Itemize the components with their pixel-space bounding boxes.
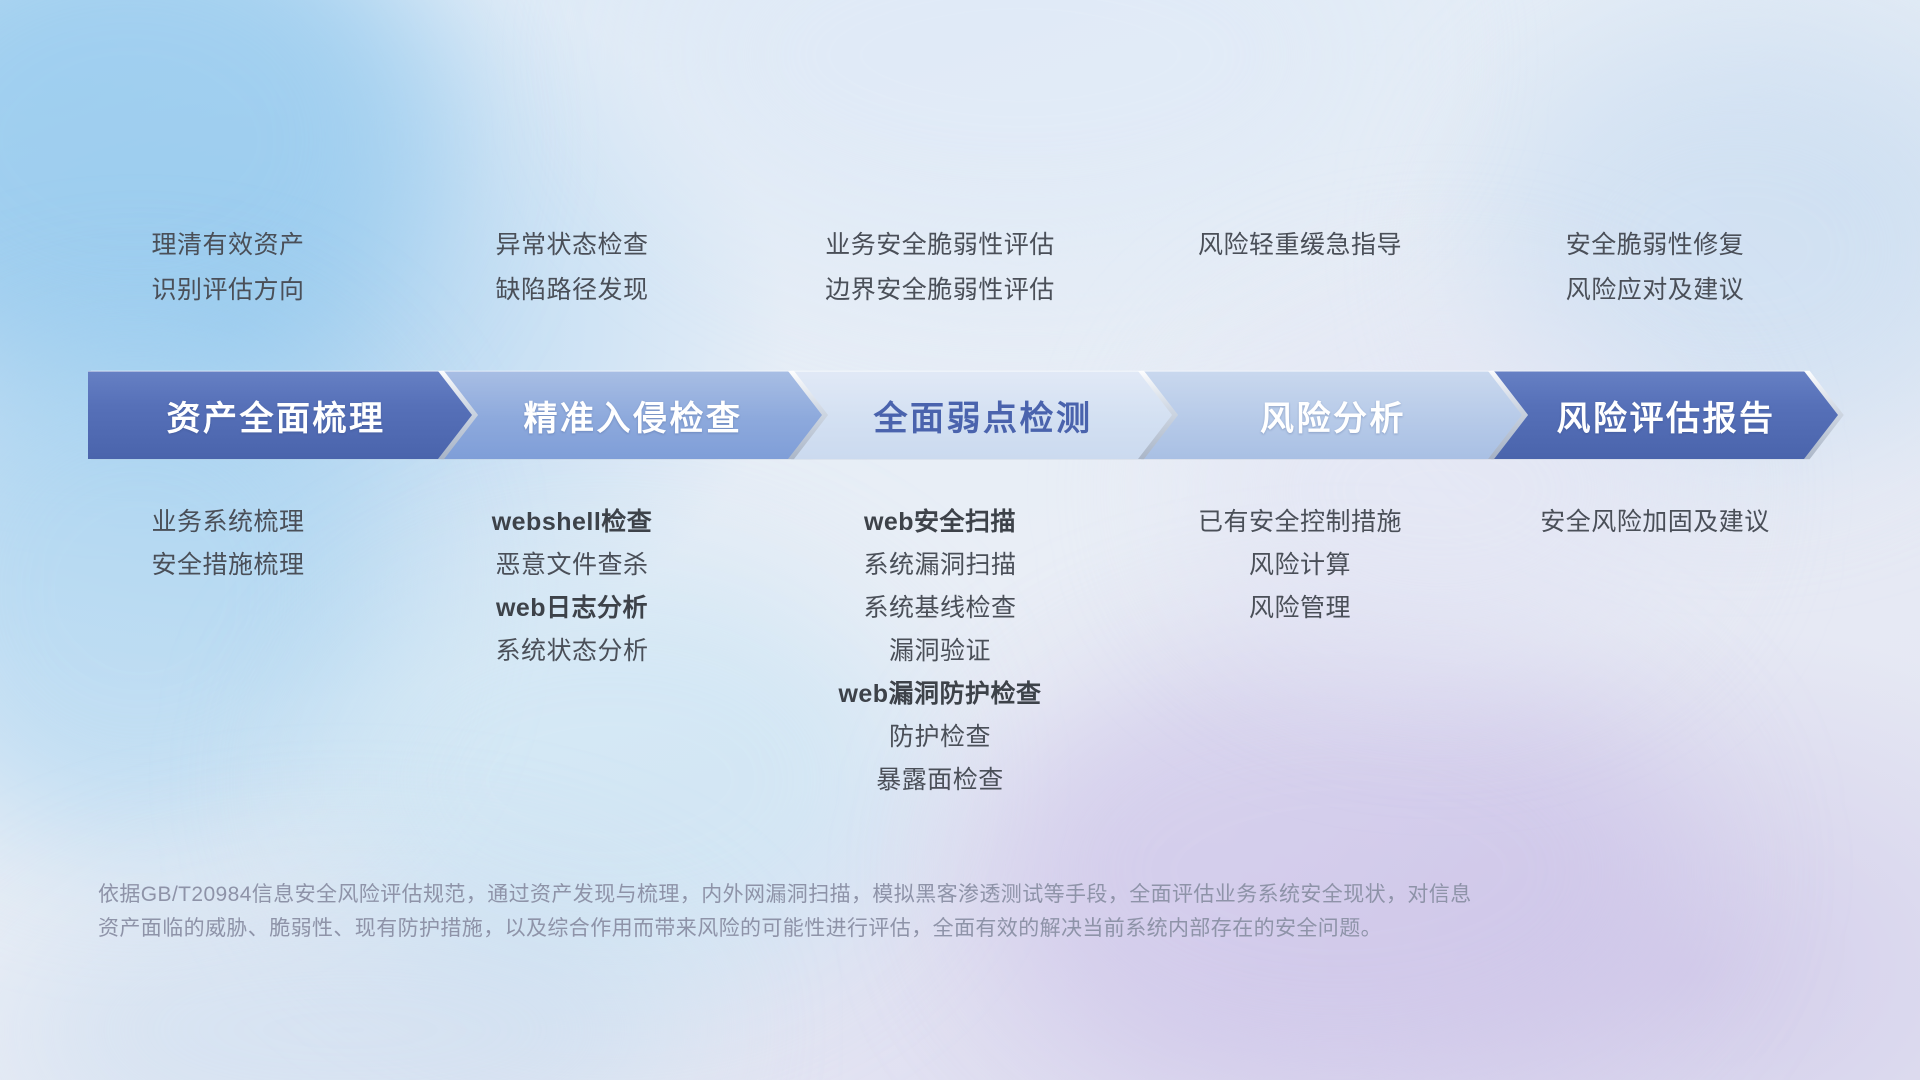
top-caption-line: 异常状态检查 <box>495 232 648 260</box>
detail-list-item: 安全措施梳理 <box>151 551 304 579</box>
footer-line-2: 资产面临的威胁、脆弱性、现有防护措施，以及综合作用而带来风险的可能性进行评估，全… <box>98 912 1638 946</box>
detail-list-asset-inventory: 业务系统梳理安全措施梳理 <box>151 508 304 579</box>
detail-list-item: web漏洞防护检查 <box>838 680 1041 708</box>
process-step-label: 全面弱点检测 <box>874 391 1093 440</box>
detail-list-item: 安全风险加固及建议 <box>1540 508 1770 536</box>
top-caption-line: 边界安全脆弱性评估 <box>825 277 1055 305</box>
detail-list-item: web日志分析 <box>496 594 648 622</box>
process-step-risk-analysis[interactable]: 风险分析 <box>1138 371 1522 459</box>
top-caption-group-weakness-detection: 业务安全脆弱性评估边界安全脆弱性评估 <box>825 232 1055 304</box>
detail-list-intrusion-check: webshell检查恶意文件查杀web日志分析系统状态分析 <box>492 508 653 665</box>
process-step-label: 风险分析 <box>1260 391 1406 440</box>
detail-list-item: 恶意文件查杀 <box>495 551 648 579</box>
footer-description: 依据GB/T20984信息安全风险评估规范，通过资产发现与梳理，内外网漏洞扫描，… <box>98 878 1638 946</box>
detail-list-item: web安全扫描 <box>864 508 1016 536</box>
top-caption-group-risk-report: 安全脆弱性修复风险应对及建议 <box>1566 232 1745 304</box>
detail-list-item: 防护检查 <box>889 723 991 751</box>
slide-canvas: 理清有效资产识别评估方向异常状态检查缺陷路径发现业务安全脆弱性评估边界安全脆弱性… <box>0 0 1920 1080</box>
detail-list-item: 已有安全控制措施 <box>1198 508 1402 536</box>
detail-list-item: 系统漏洞扫描 <box>863 551 1016 579</box>
process-step-label: 精准入侵检查 <box>524 391 743 440</box>
top-caption-line: 业务安全脆弱性评估 <box>825 232 1055 260</box>
detail-list-item: 系统基线检查 <box>863 594 1016 622</box>
process-step-asset-inventory[interactable]: 资产全面梳理 <box>88 371 472 459</box>
process-arrow-band: 资产全面梳理精准入侵检查全面弱点检测风险分析风险评估报告 <box>88 371 1838 459</box>
top-caption-line: 风险应对及建议 <box>1566 277 1745 305</box>
detail-list-risk-analysis: 已有安全控制措施风险计算风险管理 <box>1198 508 1402 622</box>
detail-list-risk-report: 安全风险加固及建议 <box>1540 508 1770 536</box>
detail-list-item: 漏洞验证 <box>889 637 991 665</box>
top-caption-line: 识别评估方向 <box>151 277 304 305</box>
detail-list-item: 风险管理 <box>1249 594 1351 622</box>
process-step-weakness-detection[interactable]: 全面弱点检测 <box>788 371 1172 459</box>
process-step-risk-report[interactable]: 风险评估报告 <box>1488 371 1838 459</box>
top-caption-line: 理清有效资产 <box>151 232 304 260</box>
top-caption-group-intrusion-check: 异常状态检查缺陷路径发现 <box>495 232 648 304</box>
process-step-intrusion-check[interactable]: 精准入侵检查 <box>438 371 822 459</box>
top-caption-group-risk-analysis: 风险轻重缓急指导 <box>1198 232 1402 260</box>
detail-list-item: 业务系统梳理 <box>151 508 304 536</box>
process-step-label: 风险评估报告 <box>1557 391 1776 440</box>
top-caption-line: 安全脆弱性修复 <box>1566 232 1745 260</box>
detail-list-item: 暴露面检查 <box>876 766 1004 794</box>
top-caption-line: 缺陷路径发现 <box>495 277 648 305</box>
top-caption-group-asset-inventory: 理清有效资产识别评估方向 <box>151 232 304 304</box>
top-caption-line: 风险轻重缓急指导 <box>1198 232 1402 260</box>
detail-list-item: webshell检查 <box>492 508 653 536</box>
footer-line-1: 依据GB/T20984信息安全风险评估规范，通过资产发现与梳理，内外网漏洞扫描，… <box>98 878 1638 912</box>
detail-list-weakness-detection: web安全扫描系统漏洞扫描系统基线检查漏洞验证web漏洞防护检查防护检查暴露面检… <box>838 508 1041 794</box>
detail-list-item: 风险计算 <box>1249 551 1351 579</box>
process-step-label: 资产全面梳理 <box>167 391 386 440</box>
detail-list-item: 系统状态分析 <box>495 637 648 665</box>
